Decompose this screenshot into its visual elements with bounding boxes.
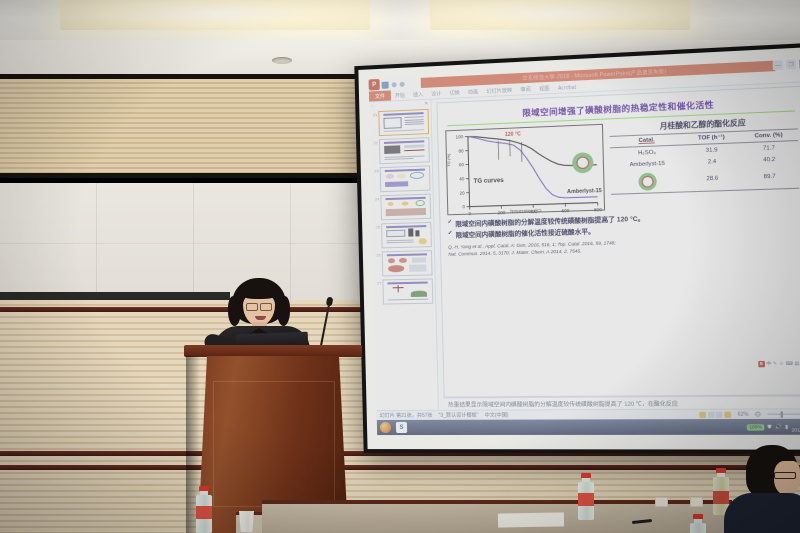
catalyst-particle-icon bbox=[638, 172, 657, 190]
sogou-logo-icon[interactable]: S bbox=[758, 360, 765, 366]
tab-review[interactable]: 审阅 bbox=[516, 85, 535, 95]
water-bottle bbox=[196, 486, 212, 533]
collapse-pane-icon[interactable]: ▫ bbox=[371, 103, 373, 109]
svg-text:80: 80 bbox=[458, 148, 464, 153]
svg-text:0: 0 bbox=[462, 204, 465, 209]
reading-view-icon[interactable] bbox=[716, 411, 723, 417]
thumbnail-slide-23[interactable]: 23 bbox=[373, 165, 431, 192]
zoom-level-label: 62% bbox=[737, 411, 748, 417]
thumbnail-number: 25 bbox=[374, 223, 380, 229]
slideshow-view-icon[interactable] bbox=[724, 411, 731, 417]
tab-home[interactable]: 开始 bbox=[391, 91, 409, 101]
thumbnail-slide-25[interactable]: 25 bbox=[374, 222, 432, 249]
svg-text:100: 100 bbox=[456, 134, 464, 139]
ceiling-light-panel bbox=[430, 0, 690, 30]
ime-keyboard-icon[interactable]: ⌨ bbox=[786, 360, 793, 366]
chart-annotation-amberlyst: Amberlyst-15 bbox=[567, 188, 602, 195]
thumbnail-number: 27 bbox=[375, 280, 381, 286]
bottle-body bbox=[578, 482, 594, 520]
taskbar-clock[interactable]: 10:32 2018-04-27 bbox=[791, 421, 800, 433]
shield-icon[interactable]: ⛊ bbox=[767, 424, 771, 430]
minimize-button[interactable]: — bbox=[773, 60, 783, 70]
save-icon[interactable] bbox=[382, 81, 389, 88]
thumbnail-number: 26 bbox=[375, 251, 381, 257]
presenter-bangs bbox=[240, 286, 278, 299]
audience-member bbox=[720, 445, 800, 533]
svg-text:20: 20 bbox=[459, 190, 465, 195]
podium-top bbox=[184, 345, 362, 357]
bottle-body bbox=[690, 523, 706, 533]
current-slide[interactable]: 限域空间增强了磺酸树脂的热稳定性和催化活性 bbox=[436, 86, 800, 398]
tab-design[interactable]: 设计 bbox=[427, 89, 445, 99]
cell-tof: 28.6 bbox=[684, 167, 740, 192]
name-card bbox=[690, 497, 703, 507]
slide-editing-area[interactable]: 限域空间增强了磺酸树脂的热稳定性和催化活性 bbox=[431, 82, 800, 410]
thumbnail-slide-26[interactable]: 26 bbox=[375, 250, 433, 277]
presenter-glasses-icon bbox=[246, 303, 272, 309]
bottle-label bbox=[578, 493, 594, 506]
tg-curves-chart: 02040 6080100 0200400 600800 bbox=[445, 124, 605, 216]
tab-transitions[interactable]: 切换 bbox=[445, 88, 464, 98]
thumbnail-slide-21[interactable]: 21 bbox=[371, 109, 429, 137]
thumbnail-slide-24[interactable]: 24 bbox=[373, 194, 431, 221]
name-card bbox=[655, 497, 668, 507]
sogou-ime-toolbar[interactable]: S 中 ✎ ☺ ⌨ ▤ ⚙ bbox=[756, 359, 800, 367]
clock-date: 2018-04-27 bbox=[792, 427, 800, 432]
tab-acrobat[interactable]: Acrobat bbox=[554, 84, 581, 93]
zoom-slider[interactable] bbox=[767, 414, 800, 415]
audience-shoulders bbox=[724, 493, 800, 533]
svg-text:60: 60 bbox=[459, 162, 465, 167]
thumbnail-number: 24 bbox=[373, 195, 379, 201]
powerpoint-window: P 华东师范大学-2018 - Microsoft PowerPoint(产品激… bbox=[369, 58, 800, 435]
network-icon[interactable]: ▮ bbox=[785, 424, 788, 430]
language-label[interactable]: 中文(中国) bbox=[485, 411, 509, 418]
tab-view[interactable]: 视图 bbox=[535, 84, 554, 94]
powerpoint-taskbar-icon[interactable]: P bbox=[369, 79, 380, 91]
undo-icon[interactable] bbox=[392, 82, 397, 87]
ime-emoji-icon[interactable]: ☺ bbox=[779, 361, 784, 366]
system-tray[interactable]: 100% ⛊ 🔊 ▮ 10:32 2018-04-27 bbox=[747, 421, 800, 433]
slide-sorter-icon[interactable] bbox=[708, 411, 715, 417]
thumbnail-number: 22 bbox=[372, 139, 378, 145]
ceiling-light-panel bbox=[60, 0, 370, 30]
tab-file[interactable]: 文件 bbox=[369, 90, 391, 101]
volume-icon[interactable]: 🔊 bbox=[775, 424, 782, 430]
paper-cup bbox=[238, 511, 255, 532]
cell-catalyst-icon bbox=[611, 169, 685, 195]
checkmark-icon: ✓ bbox=[448, 230, 453, 236]
esterification-table-block: 月桂酸和乙醇的酯化反应 Catal. TOF (h⁻¹) Conv. (%) bbox=[610, 116, 800, 211]
thumbnail-slide-27[interactable]: 27 bbox=[375, 278, 433, 304]
bottle-label bbox=[196, 506, 212, 519]
thumbnail-list[interactable]: 21 bbox=[369, 108, 438, 410]
thumbnail-slide-22[interactable]: 22 bbox=[372, 137, 430, 164]
catalyst-table: Catal. TOF (h⁻¹) Conv. (%) H₂SO₄ bbox=[610, 128, 799, 194]
battery-indicator[interactable]: 100% bbox=[747, 424, 764, 430]
view-mode-buttons[interactable] bbox=[700, 411, 731, 417]
sogou-ime-icon[interactable]: S bbox=[396, 422, 407, 433]
tab-slideshow[interactable]: 幻灯片放映 bbox=[482, 86, 516, 97]
papers-on-desk bbox=[498, 512, 564, 527]
water-bottle bbox=[690, 514, 706, 533]
bottle-body bbox=[196, 495, 212, 533]
normal-view-icon[interactable] bbox=[700, 411, 707, 417]
zoom-out-button[interactable]: − bbox=[755, 412, 761, 417]
ime-mode-icon[interactable]: 中 bbox=[766, 360, 771, 366]
ime-panel-icon[interactable]: ▤ bbox=[794, 360, 799, 366]
slide-count-label: 幻灯片 第21张，共57张 bbox=[380, 412, 433, 419]
ime-pen-icon[interactable]: ✎ bbox=[773, 360, 777, 366]
redo-icon[interactable] bbox=[400, 81, 405, 86]
tab-insert[interactable]: 插入 bbox=[409, 90, 427, 100]
chart-y-axis-label: TG (%) bbox=[446, 153, 451, 166]
template-name-label: "3_默认设计模板" bbox=[438, 412, 478, 419]
thumbnail-number: 23 bbox=[373, 167, 379, 173]
windows-start-icon[interactable] bbox=[380, 422, 391, 433]
lecture-hall-scene: P 华东师范大学-2018 - Microsoft PowerPoint(产品激… bbox=[0, 0, 800, 533]
svg-text:40: 40 bbox=[459, 176, 465, 181]
cell-conv: 89.7 bbox=[740, 164, 799, 190]
projection-screen: P 华东师范大学-2018 - Microsoft PowerPoint(产品激… bbox=[354, 42, 800, 454]
restore-button[interactable]: ❐ bbox=[786, 60, 796, 70]
close-pane-icon[interactable]: ✕ bbox=[424, 101, 428, 107]
windows-taskbar[interactable]: S P 100% ⛊ 🔊 ▮ 10:32 2018-04-27 bbox=[377, 419, 800, 435]
thumbnail-number: 21 bbox=[371, 111, 377, 117]
water-bottle bbox=[578, 473, 594, 520]
ceiling-vent-icon bbox=[272, 57, 292, 64]
wall-rail bbox=[0, 465, 800, 470]
chart-annotation-120c: 120 °C bbox=[505, 131, 521, 138]
chart-annotation-tg-curves: TG curves bbox=[474, 178, 504, 185]
tab-animations[interactable]: 动画 bbox=[464, 87, 483, 97]
audience-glasses-icon bbox=[774, 472, 796, 479]
bullet-text: 限域空间内磺酸树脂的催化活性接近硫酸水平。 bbox=[455, 226, 594, 239]
slide-thumbnail-pane[interactable]: ▫ ✕ 21 bbox=[369, 100, 439, 410]
